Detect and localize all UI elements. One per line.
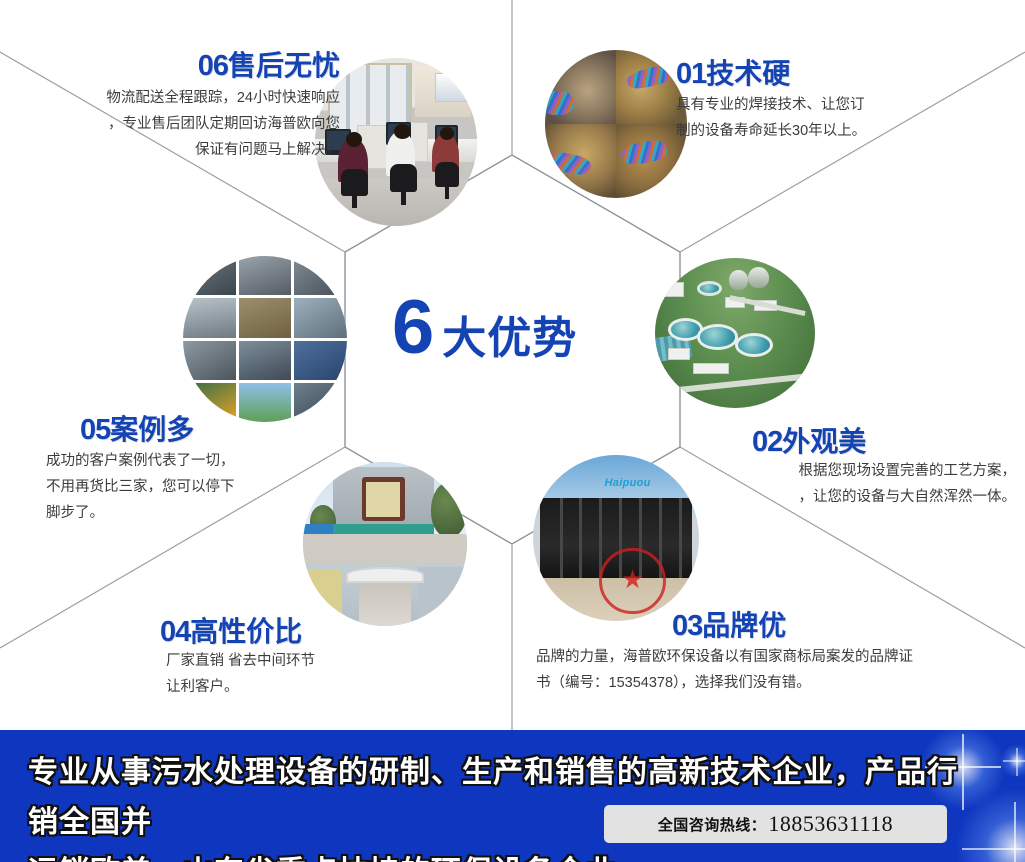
advantage-05-title: 案例多 xyxy=(110,414,194,445)
hotline-label: 全国咨询热线： xyxy=(658,814,767,835)
advantage-02-heading: 02外观美 xyxy=(752,420,866,460)
hotline-number: 18853631118 xyxy=(768,811,893,837)
hotline-box[interactable]: 全国咨询热线： 18853631118 xyxy=(604,805,947,843)
advantages-infographic: 06售后无忧 物流配送全程跟踪，24小时快速响应 ，专业售后团队定期回访海普欧向… xyxy=(0,0,1025,862)
advantage-02-title: 外观美 xyxy=(782,426,866,457)
photo-welding-closeup xyxy=(545,50,687,198)
sparkle-ray-5 xyxy=(1016,748,1018,776)
trademark-stamp-icon xyxy=(599,548,665,614)
sparkle-ray-3 xyxy=(1014,802,1016,862)
center-headline: 6 大优势 xyxy=(392,290,577,366)
sparkle-ray-6 xyxy=(1003,760,1025,762)
center-label: 大优势 xyxy=(442,317,577,361)
advantage-01-heading: 01技术硬 xyxy=(676,52,790,92)
center-number: 6 xyxy=(392,290,432,366)
advantage-06-number: 06 xyxy=(198,50,228,82)
advantage-01-title: 技术硬 xyxy=(706,58,790,89)
advantage-06-heading: 06售后无忧 xyxy=(40,44,340,84)
photo-black-tank: Haipuou xyxy=(533,455,699,621)
advantage-06-body: 物流配送全程跟踪，24小时快速响应 ，专业售后团队定期回访海普欧向您 保证有问题… xyxy=(10,85,340,163)
advantage-03-number: 03 xyxy=(672,610,702,642)
photo-aerial-plant xyxy=(655,258,815,408)
advantage-03-title: 品牌优 xyxy=(702,610,786,641)
advantage-05-number: 05 xyxy=(80,414,110,446)
advantage-03-heading: 03品牌优 xyxy=(672,604,786,644)
advantage-05-body: 成功的客户案例代表了一切， 不用再货比三家，您可以停下 脚步了。 xyxy=(46,448,346,526)
advantage-02-number: 02 xyxy=(752,426,782,458)
advantage-01-number: 01 xyxy=(676,58,706,90)
photo-factory-gate xyxy=(303,462,467,626)
haipuou-logo-text: Haipuou xyxy=(593,477,663,494)
advantage-04-heading: 04高性价比 xyxy=(160,610,302,650)
advantage-06-title: 售后无忧 xyxy=(228,50,340,81)
advantage-02-body: 根据您现场设置完善的工艺方案， ，让您的设备与大自然浑然一体。 xyxy=(700,458,1016,510)
advantage-04-number: 04 xyxy=(160,616,190,648)
advantage-04-body: 厂家直销 省去中间环节 让利客户。 xyxy=(166,648,466,700)
advantage-01-body: 具有专业的焊接技术、让您订 制的设备寿命延长30年以上。 xyxy=(676,92,1016,144)
photo-case-grid xyxy=(183,256,347,422)
advantage-05-heading: 05案例多 xyxy=(80,408,194,448)
advantage-03-body: 品牌的力量，海普欧环保设备以有国家商标局案发的品牌证 书（编号：15354378… xyxy=(536,644,1016,696)
advantage-04-title: 高性价比 xyxy=(190,616,302,647)
